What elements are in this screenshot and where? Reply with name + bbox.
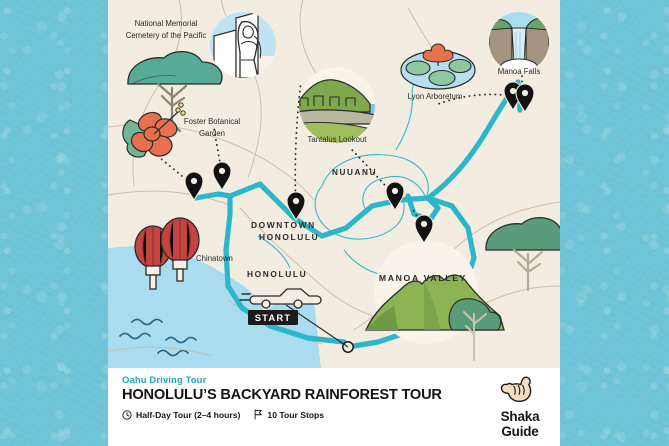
duration-item: Half-Day Tour (2–4 hours) (122, 410, 240, 420)
svg-text:Foster Botanical: Foster Botanical (184, 117, 241, 126)
poster-root: National Memorial Cemetery of the Pacifi… (0, 0, 669, 446)
duration-label: Half-Day Tour (2–4 hours) (136, 410, 240, 420)
clock-icon (122, 410, 132, 420)
svg-text:Lyon Arboretum: Lyon Arboretum (408, 92, 463, 101)
shaka-guide-logo[interactable]: Shaka Guide (489, 374, 551, 438)
poster-card: National Memorial Cemetery of the Pacifi… (108, 0, 560, 446)
svg-text:Chinatown: Chinatown (196, 254, 233, 263)
svg-text:START: START (255, 312, 292, 323)
svg-text:Manoa Falls: Manoa Falls (498, 67, 541, 76)
svg-text:HONOLULU: HONOLULU (247, 269, 307, 279)
shaka-hand-icon (500, 374, 540, 404)
svg-text:MANOA VALLEY: MANOA VALLEY (379, 273, 467, 283)
footer-meta: Half-Day Tour (2–4 hours) 10 Tour Stops (122, 409, 552, 420)
footer-eyebrow: Oahu Driving Tour (122, 375, 552, 386)
svg-text:Cemetery of the Pacific: Cemetery of the Pacific (126, 31, 207, 40)
stops-item: 10 Tour Stops (253, 409, 324, 420)
brand-line-2: Guide (489, 425, 551, 439)
svg-text:Tantalus Lookout: Tantalus Lookout (308, 135, 368, 144)
stops-label: 10 Tour Stops (267, 410, 324, 420)
svg-text:National Memorial: National Memorial (135, 19, 198, 28)
footer-title: HONOLULU’S BACKYARD RAINFOREST TOUR (122, 388, 552, 403)
svg-text:NUUANU: NUUANU (332, 168, 377, 177)
flag-icon (253, 409, 263, 420)
poster-footer: Oahu Driving Tour HONOLULU’S BACKYARD RA… (108, 368, 560, 446)
svg-text:DOWNTOWN: DOWNTOWN (251, 220, 316, 230)
tour-map[interactable]: National Memorial Cemetery of the Pacifi… (108, 0, 560, 368)
svg-text:Garden: Garden (199, 129, 225, 138)
brand-line-1: Shaka (489, 410, 551, 424)
svg-text:HONOLULU: HONOLULU (259, 232, 319, 242)
monument-statue-circle-illustration (210, 12, 276, 78)
start-badge: START (248, 310, 298, 325)
